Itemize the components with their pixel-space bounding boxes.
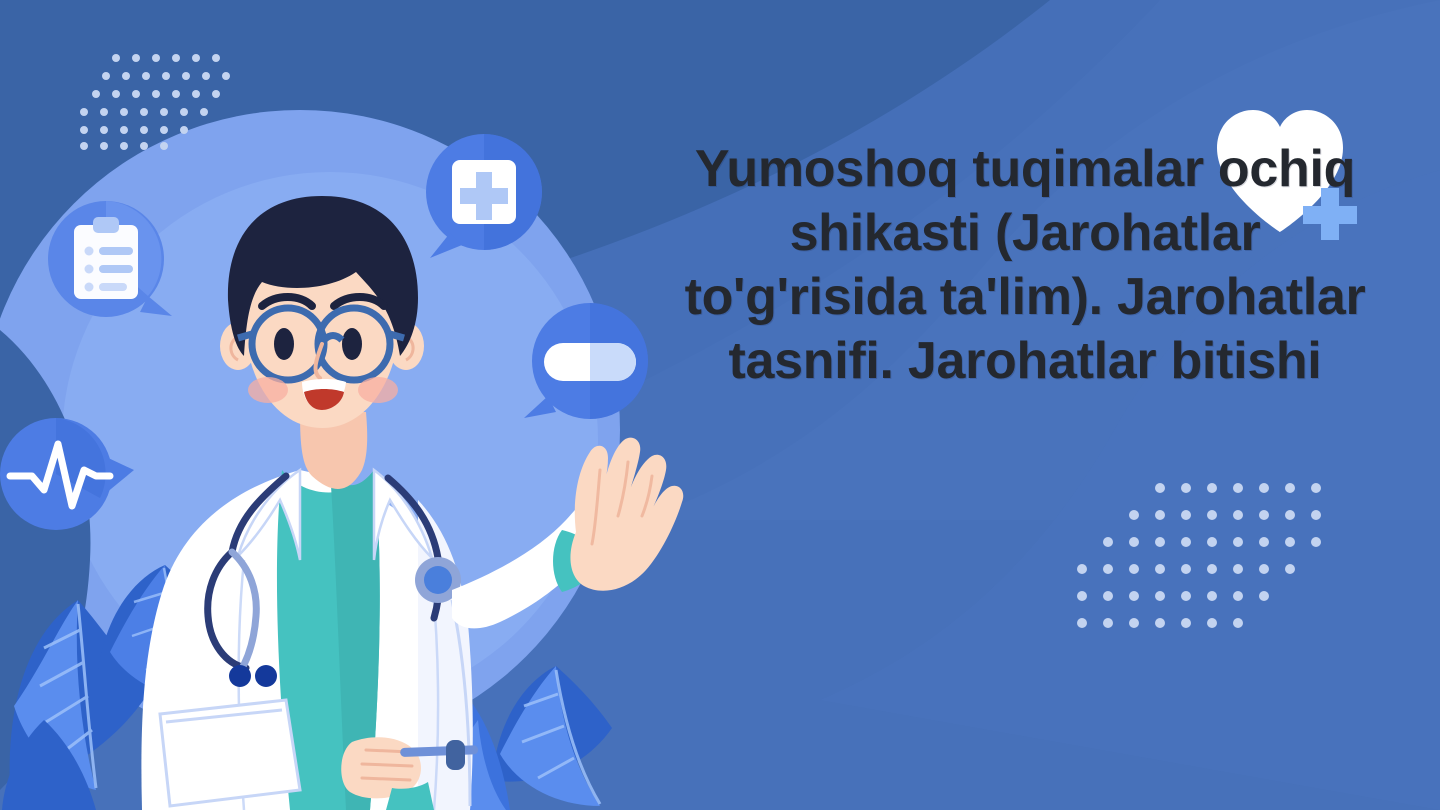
slide-title-container: Yumoshoq tuqimalar ochiq shikasti (Jaroh…: [630, 138, 1420, 394]
waving-hand: [570, 438, 683, 591]
dot-grid-bottom-right: [1068, 478, 1336, 630]
eye-left: [274, 328, 294, 360]
page-title: Yumoshoq tuqimalar ochiq shikasti (Jaroh…: [630, 138, 1420, 394]
cross-bubble: [426, 134, 542, 258]
heartbeat-bubble: [0, 418, 134, 530]
stethoscope-tip-right: [255, 665, 277, 687]
clipboard-bubble: [48, 201, 172, 317]
pill-icon: [544, 343, 636, 381]
presentation-slide: Yumoshoq tuqimalar ochiq shikasti (Jaroh…: [0, 0, 1440, 810]
doctor-illustration: [0, 0, 700, 810]
clipboard-icon: [74, 217, 138, 299]
stethoscope-tip-left: [229, 665, 251, 687]
eye-right: [342, 328, 362, 360]
medical-cross-icon: [452, 160, 516, 224]
